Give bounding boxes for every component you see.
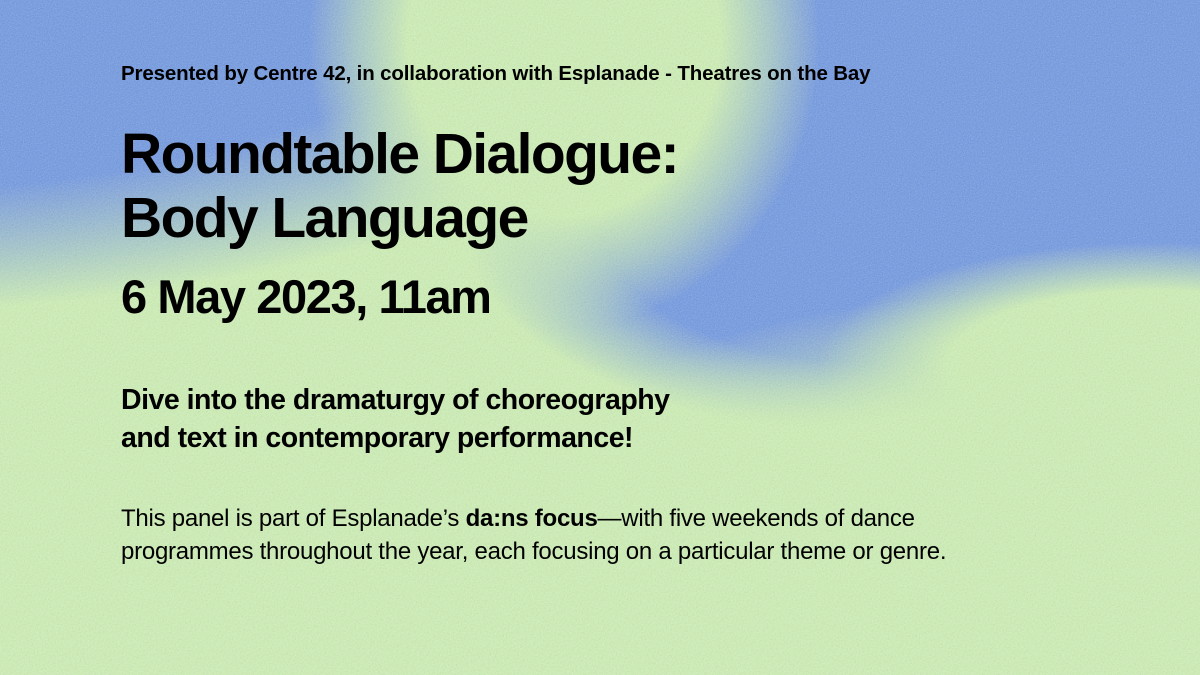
description-lead: This panel is part of Esplanade’s <box>121 505 466 532</box>
description-emphasis: da:ns focus <box>466 505 598 532</box>
event-poster: Presented by Centre 42, in collaboration… <box>0 0 1200 675</box>
event-description: This panel is part of Esplanade’s da:ns … <box>121 503 951 568</box>
event-tagline: Dive into the dramaturgy of choreography… <box>121 382 670 458</box>
poster-content: Presented by Centre 42, in collaboration… <box>0 0 1200 675</box>
presenter-credit-line: Presented by Centre 42, in collaboration… <box>121 62 870 86</box>
event-datetime: 6 May 2023, 11am <box>121 269 491 324</box>
event-title: Roundtable Dialogue: Body Language <box>121 122 678 251</box>
